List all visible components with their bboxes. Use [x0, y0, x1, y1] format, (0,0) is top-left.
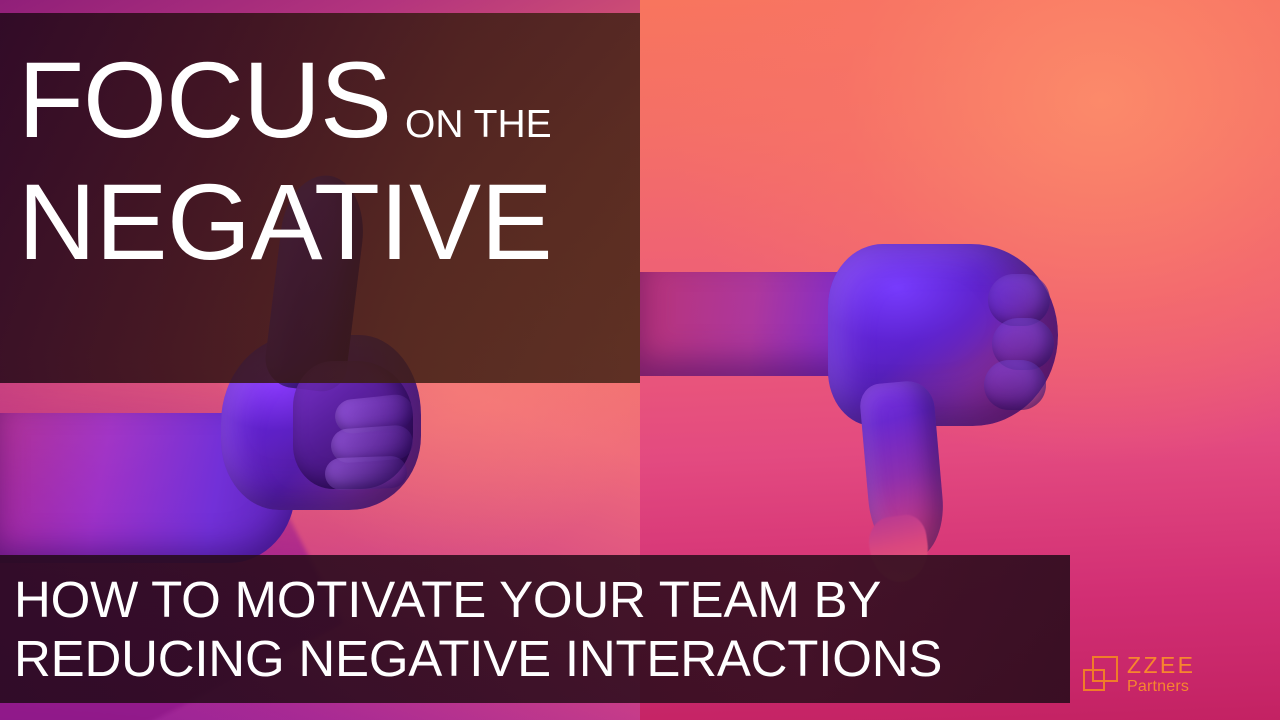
- page-title-suffix: ON THE: [405, 103, 552, 147]
- subtitle-line-two: REDUCING NEGATIVE INTERACTIONS: [14, 629, 1054, 688]
- page-title: FOCUS: [18, 46, 391, 154]
- presentation-slide: FOCUS ON THE NEGATIVE HOW TO MOTIVATE YO…: [0, 0, 1280, 720]
- subtitle-block: HOW TO MOTIVATE YOUR TEAM BY REDUCING NE…: [14, 570, 1054, 688]
- page-title-second-line: NEGATIVE: [18, 168, 638, 276]
- logo-brand-name: ZZEE: [1127, 654, 1195, 677]
- subtitle-line-one: HOW TO MOTIVATE YOUR TEAM BY: [14, 570, 1054, 629]
- brand-logo: ZZEE Partners: [1082, 648, 1252, 700]
- title-line-one: FOCUS ON THE: [18, 46, 638, 154]
- logo-text-group: ZZEE Partners: [1127, 654, 1195, 695]
- logo-tagline: Partners: [1127, 679, 1195, 695]
- thumbs-down-knuckle: [984, 360, 1046, 410]
- overlapping-squares-icon: [1082, 654, 1120, 694]
- title-block: FOCUS ON THE NEGATIVE: [18, 46, 638, 276]
- thumbs-down-icon: [640, 232, 1090, 562]
- logo-square-inner: [1092, 669, 1105, 682]
- thumbs-up-finger: [324, 456, 407, 491]
